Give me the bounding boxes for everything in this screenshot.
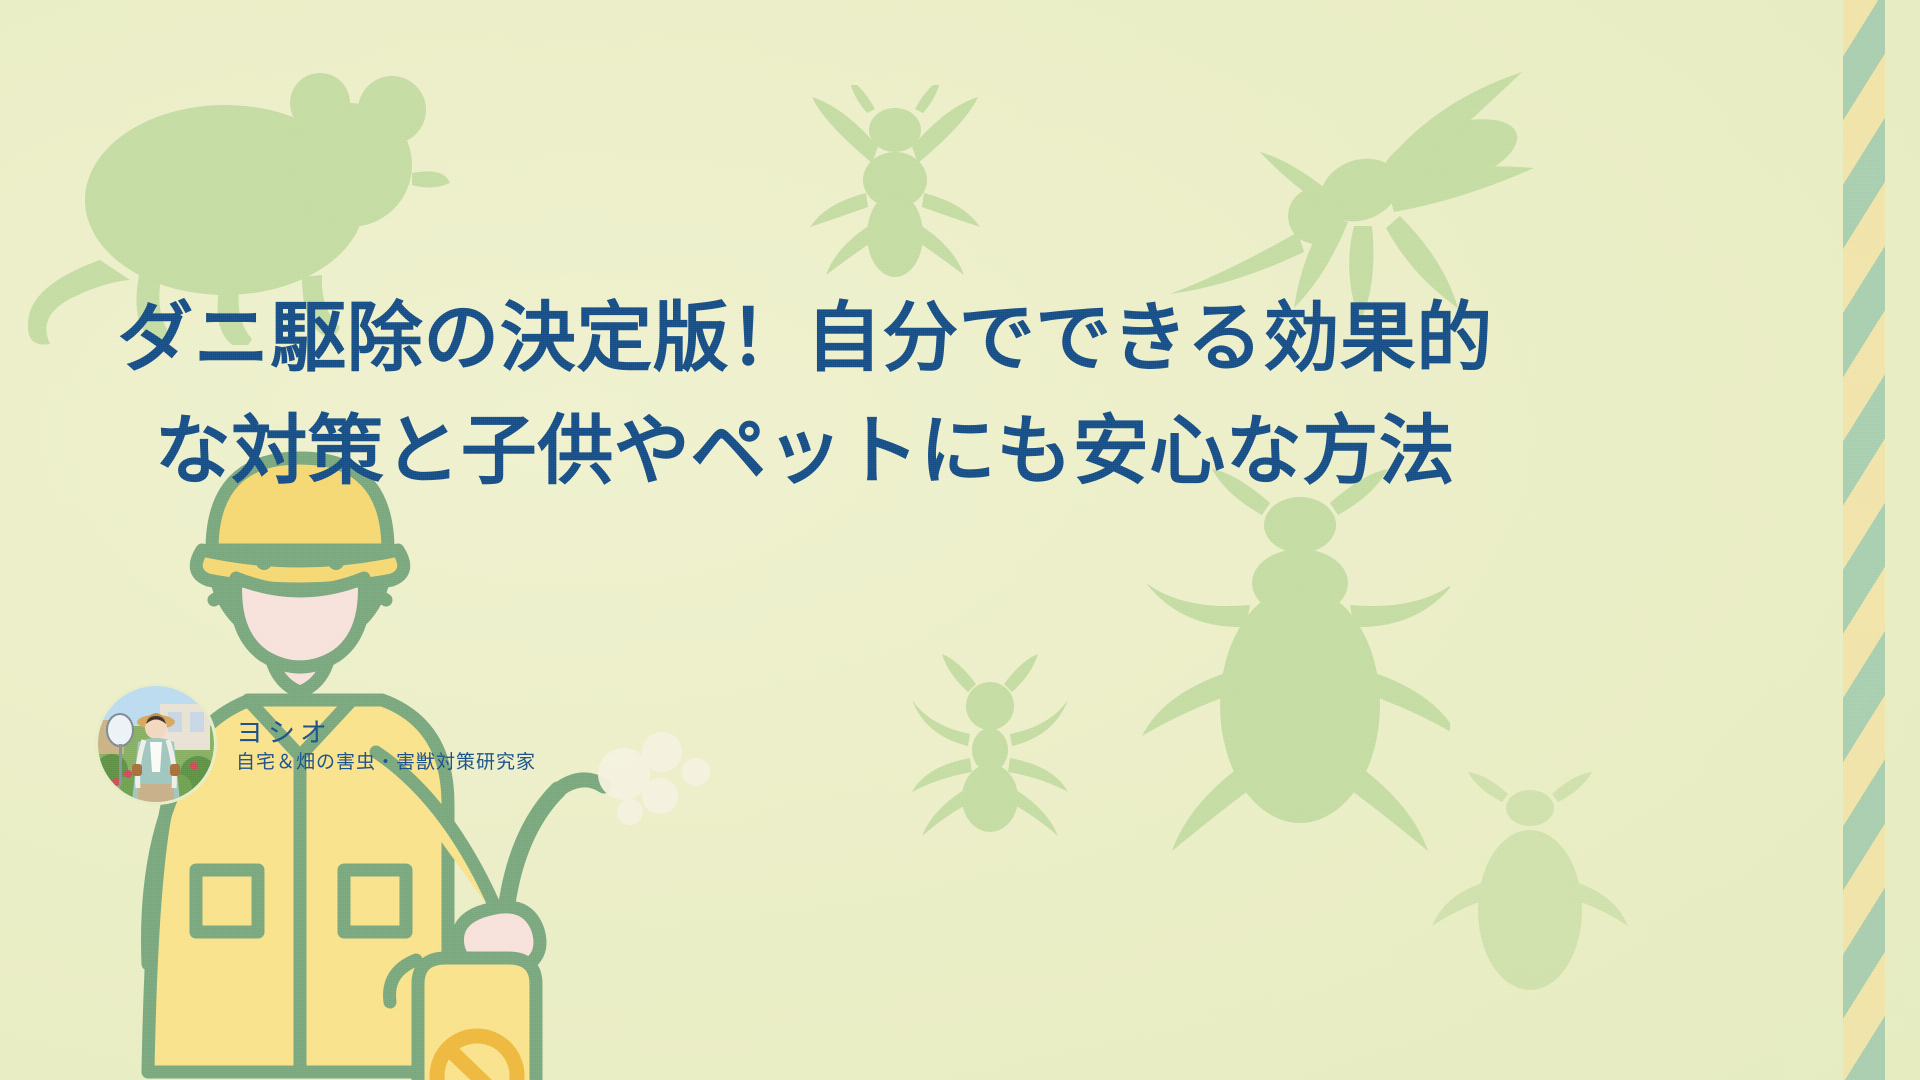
avatar bbox=[98, 686, 214, 802]
avatar-illustration bbox=[98, 686, 214, 802]
fly-silhouette bbox=[800, 85, 990, 285]
beetle-silhouette bbox=[1130, 455, 1450, 865]
thumbnail-canvas: ダニ駆除の決定版！自分でできる効果的 な対策と子供やペットにも安心な方法 bbox=[0, 0, 1920, 1080]
author-text: ヨシオ 自宅＆畑の害虫・害獣対策研究家 bbox=[236, 716, 536, 772]
diagonal-stripe-band bbox=[1843, 0, 1885, 1080]
title-line-2: な対策と子供やペットにも安心な方法 bbox=[0, 395, 1610, 508]
ant-silhouette bbox=[900, 650, 1080, 840]
author-bio: 自宅＆畑の害虫・害獣対策研究家 bbox=[236, 753, 536, 772]
beetle-silhouette-small bbox=[1430, 760, 1630, 1020]
author-name: ヨシオ bbox=[236, 720, 536, 747]
author-block: ヨシオ 自宅＆畑の害虫・害獣対策研究家 bbox=[98, 686, 536, 802]
page-title: ダニ駆除の決定版！自分でできる効果的 な対策と子供やペットにも安心な方法 bbox=[0, 282, 1610, 508]
title-line-1: ダニ駆除の決定版！自分でできる効果的 bbox=[0, 282, 1610, 395]
